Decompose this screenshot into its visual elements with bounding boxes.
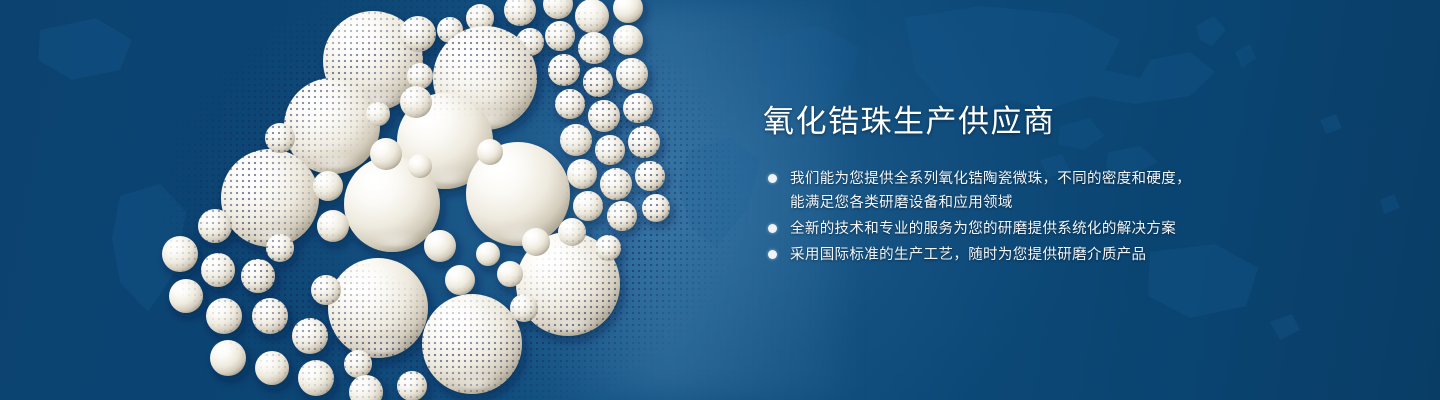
list-item: 采用国际标准的生产工艺，随时为您提供研磨介质产品	[763, 243, 1303, 267]
feature-text-line-1: 我们能为您提供全系列氧化锆陶瓷微珠，不同的密度和硬度，	[790, 171, 1191, 187]
banner-copy: 氧化锆珠生产供应商 我们能为您提供全系列氧化锆陶瓷微珠，不同的密度和硬度， 能满…	[763, 104, 1303, 269]
bullet-dot-icon	[768, 174, 777, 183]
bullet-dot-icon	[768, 224, 777, 233]
feature-text-line-1: 全新的技术和专业的服务为您的研磨提供系统化的解决方案	[790, 221, 1176, 237]
hero-banner: 氧化锆珠生产供应商 我们能为您提供全系列氧化锆陶瓷微珠，不同的密度和硬度， 能满…	[0, 0, 1440, 400]
feature-text-line-2: 能满足您各类研磨设备和应用领域	[790, 191, 1303, 215]
list-item: 我们能为您提供全系列氧化锆陶瓷微珠，不同的密度和硬度， 能满足您各类研磨设备和应…	[763, 167, 1303, 215]
feature-text-line-1: 采用国际标准的生产工艺，随时为您提供研磨介质产品	[790, 247, 1146, 263]
halftone-texture	[120, 0, 760, 400]
page-title: 氧化锆珠生产供应商	[763, 104, 1303, 140]
bullet-dot-icon	[768, 250, 777, 259]
list-item: 全新的技术和专业的服务为您的研磨提供系统化的解决方案	[763, 217, 1303, 241]
feature-list: 我们能为您提供全系列氧化锆陶瓷微珠，不同的密度和硬度， 能满足您各类研磨设备和应…	[763, 167, 1303, 267]
product-photo-zirconia-beads	[120, 0, 760, 400]
